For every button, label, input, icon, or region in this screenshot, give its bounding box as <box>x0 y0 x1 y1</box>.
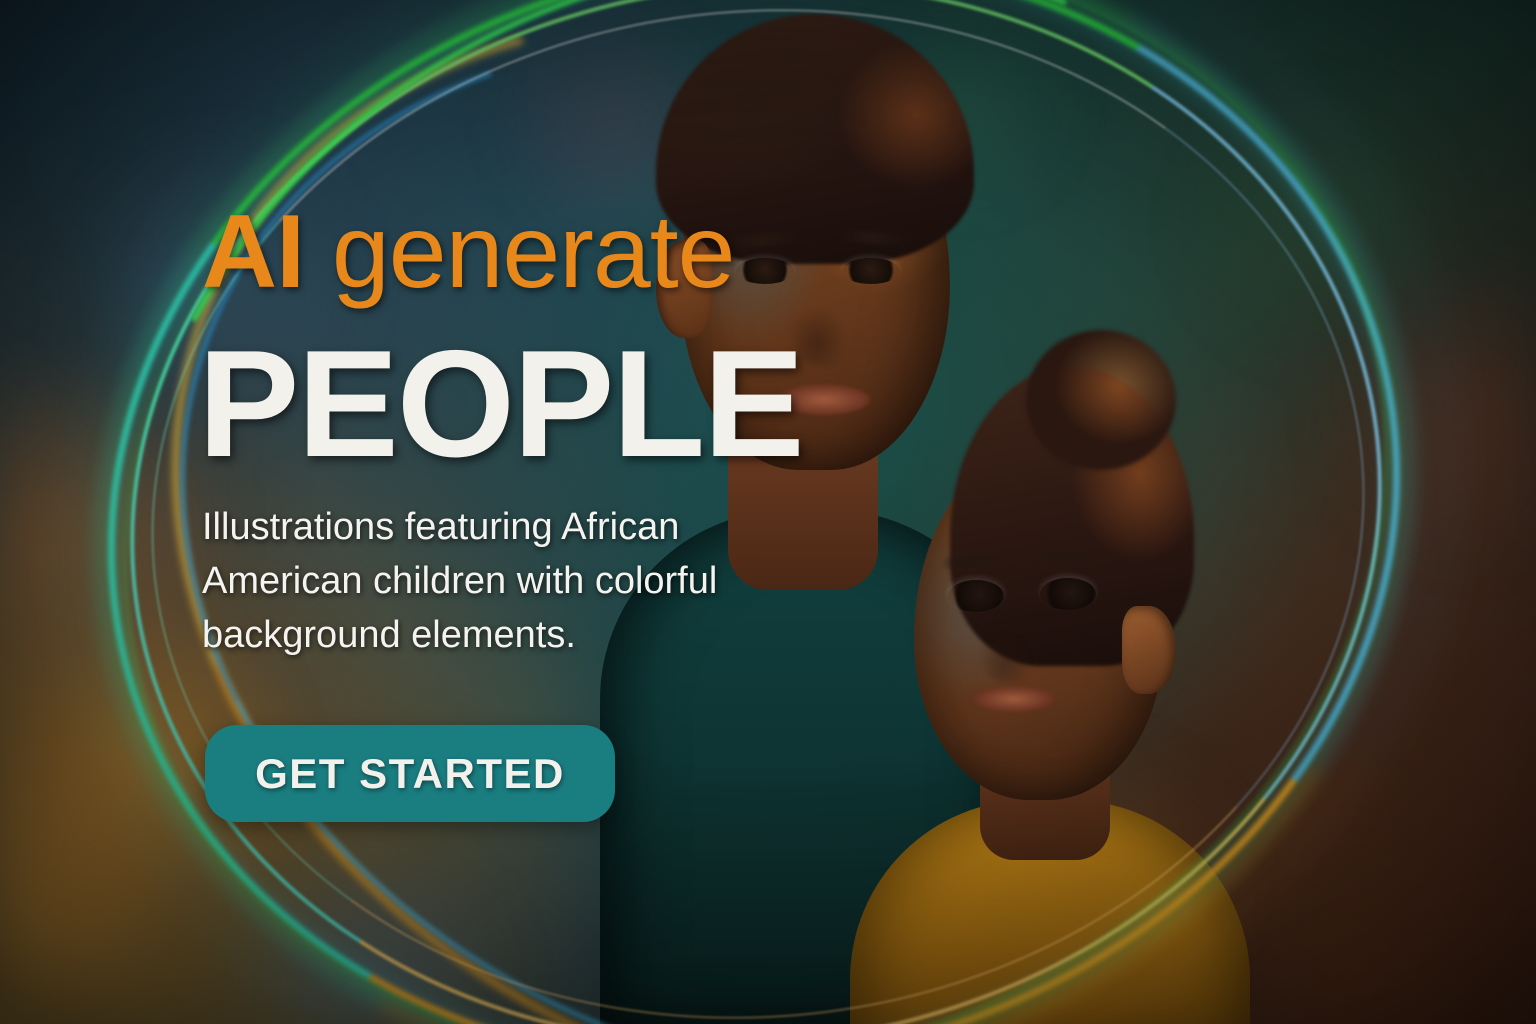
subtitle-line-3: background elements. <box>202 608 842 662</box>
subtitle-text: Illustrations featuring African American… <box>202 500 842 662</box>
kicker-prefix: AI <box>202 194 304 310</box>
banner-content: AI generate PEOPLE Illustrations featuri… <box>0 0 1536 1024</box>
subtitle-line-1: Illustrations featuring African <box>202 500 842 554</box>
subtitle-line-2: American children with colorful <box>202 554 842 608</box>
hero-banner: AI generate PEOPLE Illustrations featuri… <box>0 0 1536 1024</box>
page-title: PEOPLE <box>198 328 803 480</box>
kicker-heading: AI generate <box>202 200 734 304</box>
kicker-suffix: generate <box>304 194 734 310</box>
get-started-button[interactable]: GET STARTED <box>205 725 615 822</box>
